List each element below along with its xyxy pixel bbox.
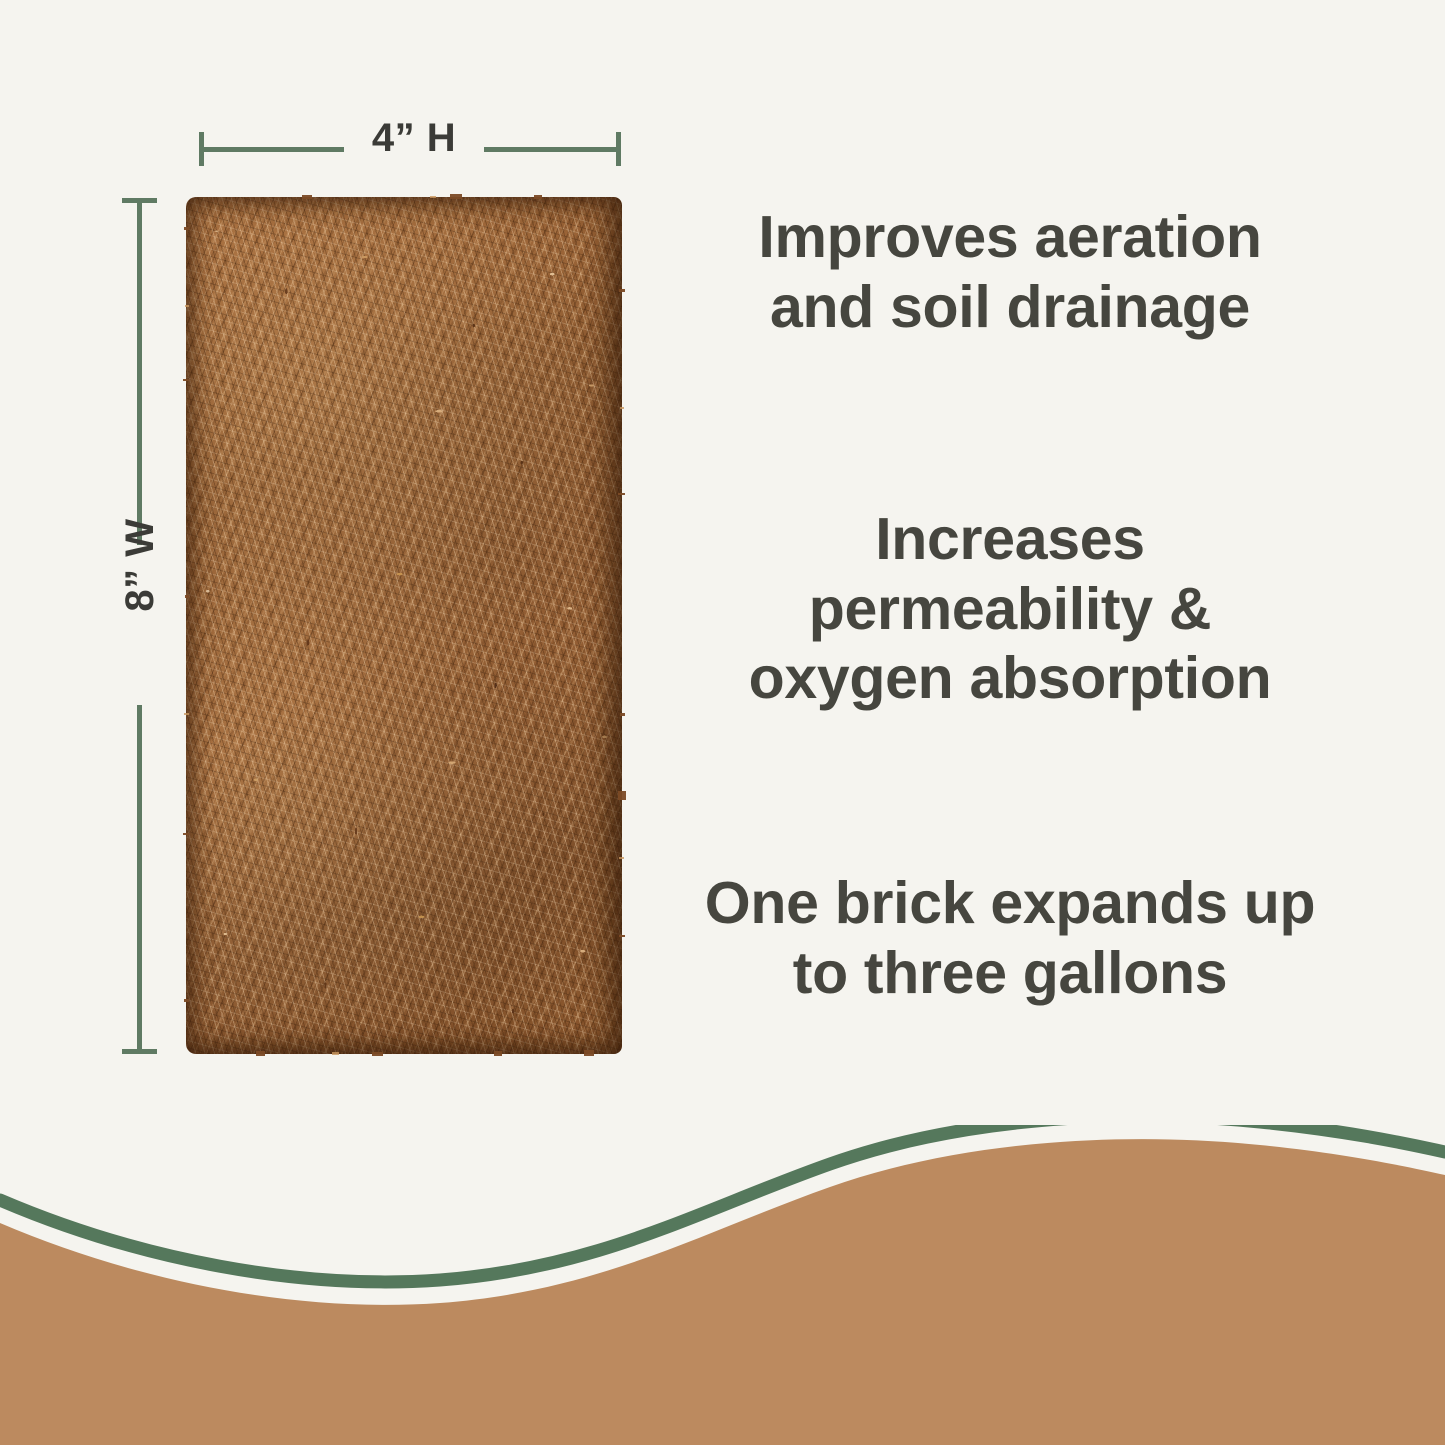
infographic-canvas: 4” H 8” W xyxy=(0,0,1445,1445)
height-dimension-cap-bottom xyxy=(122,1049,157,1054)
benefit-text-expansion: One brick expands up to three gallons xyxy=(700,869,1320,1008)
benefit-text-permeability: Increases permeability & oxygen absorpti… xyxy=(700,505,1320,714)
width-dimension-line-left xyxy=(199,147,344,152)
height-dimension-label: 8” W xyxy=(120,495,160,635)
width-dimension-cap-right xyxy=(616,132,621,166)
benefit-text-aeration: Improves aeration and soil drainage xyxy=(700,203,1320,342)
width-dimension-label: 4” H xyxy=(344,118,484,158)
width-dimension-line-right xyxy=(484,147,620,152)
height-dimension-cap-top xyxy=(122,198,157,203)
height-dimension-line-top xyxy=(137,200,142,545)
coir-brick-image xyxy=(186,197,622,1054)
decorative-wave-band xyxy=(0,1125,1445,1445)
height-dimension-line-bottom xyxy=(137,705,142,1052)
width-dimension-cap-left xyxy=(199,132,204,166)
